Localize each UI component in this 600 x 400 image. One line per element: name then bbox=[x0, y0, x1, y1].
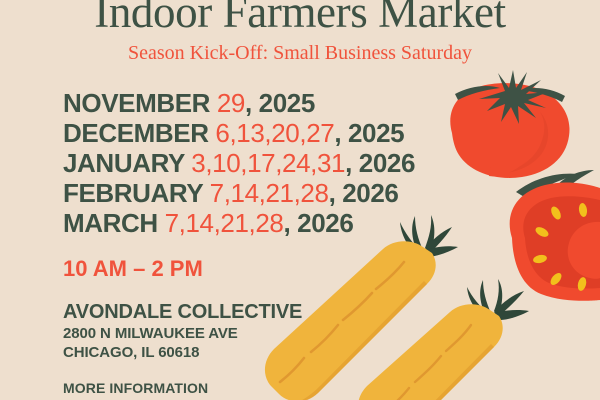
date-year: 2025 bbox=[259, 88, 315, 118]
carrot-small-illustration bbox=[358, 279, 529, 400]
date-month: JANUARY bbox=[63, 148, 184, 178]
date-month: MARCH bbox=[63, 208, 158, 238]
page-subtitle: Season Kick-Off: Small Business Saturday bbox=[0, 42, 600, 65]
tomato-seeds-icon bbox=[532, 203, 588, 292]
tomato-half-illustration bbox=[489, 159, 600, 301]
page-title: Indoor Farmers Market bbox=[0, 0, 600, 37]
tomato-calyx-icon bbox=[455, 70, 565, 124]
address-line-2: CHICAGO, IL 60618 bbox=[63, 343, 302, 362]
date-comma: , bbox=[284, 208, 291, 238]
date-year: 2025 bbox=[348, 118, 404, 148]
date-year: 2026 bbox=[297, 208, 353, 238]
date-days: 3,10,17,24,31 bbox=[191, 148, 345, 178]
venue-name: AVONDALE COLLECTIVE bbox=[63, 300, 302, 324]
date-days: 6,13,20,27 bbox=[215, 118, 334, 148]
date-row: MARCH 7,14,21,28, 2026 bbox=[63, 208, 415, 238]
event-time: 10 AM – 2 PM bbox=[63, 256, 302, 282]
date-row: DECEMBER 6,13,20,27, 2025 bbox=[63, 118, 415, 148]
date-month: NOVEMBER bbox=[63, 88, 210, 118]
poster-canvas: Indoor Farmers Market Season Kick-Off: S… bbox=[0, 0, 600, 400]
date-days: 7,14,21,28 bbox=[165, 208, 284, 238]
date-comma: , bbox=[245, 88, 252, 118]
date-days: 29 bbox=[217, 88, 245, 118]
event-details: 10 AM – 2 PM AVONDALE COLLECTIVE 2800 N … bbox=[63, 256, 302, 397]
date-days: 7,14,21,28 bbox=[210, 178, 329, 208]
date-month: FEBRUARY bbox=[63, 178, 203, 208]
date-month: DECEMBER bbox=[63, 118, 209, 148]
carrot-small-greens-icon bbox=[467, 279, 529, 320]
address-line-1: 2800 N MILWAUKEE AVE bbox=[63, 324, 302, 343]
date-year: 2026 bbox=[342, 178, 398, 208]
date-list: NOVEMBER 29, 2025 DECEMBER 6,13,20,27, 2… bbox=[63, 88, 415, 238]
date-row: JANUARY 3,10,17,24,31, 2026 bbox=[63, 148, 415, 178]
date-year: 2026 bbox=[359, 148, 415, 178]
date-row: NOVEMBER 29, 2025 bbox=[63, 88, 415, 118]
tomato-whole-illustration bbox=[450, 70, 569, 178]
date-comma: , bbox=[334, 118, 341, 148]
headline-block: Indoor Farmers Market Season Kick-Off: S… bbox=[0, 0, 600, 65]
date-row: FEBRUARY 7,14,21,28, 2026 bbox=[63, 178, 415, 208]
more-information-link[interactable]: MORE INFORMATION bbox=[63, 379, 302, 397]
date-comma: , bbox=[329, 178, 336, 208]
date-comma: , bbox=[345, 148, 352, 178]
